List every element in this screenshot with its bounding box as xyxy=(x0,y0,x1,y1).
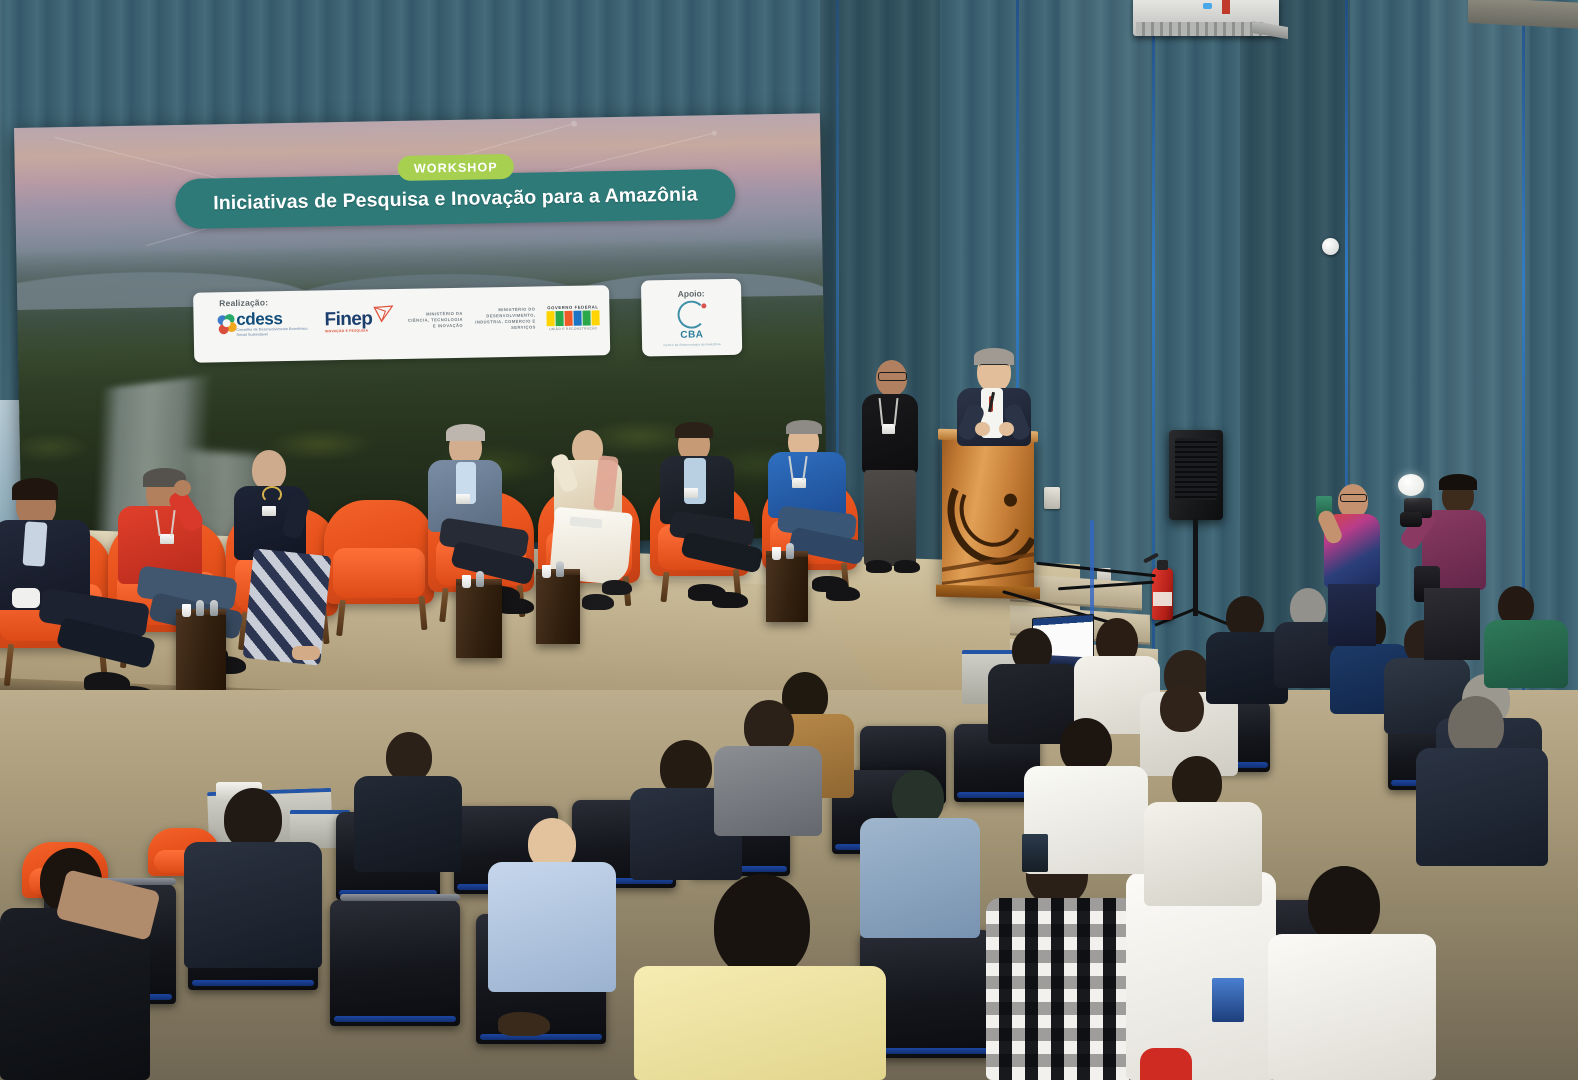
audience-head xyxy=(1160,684,1204,732)
finep-triangle-icon xyxy=(373,305,393,322)
audience-torso xyxy=(1144,802,1262,906)
phone-screen[interactable] xyxy=(1212,978,1244,1022)
panelist-shoe xyxy=(582,594,614,610)
water-cup[interactable] xyxy=(542,565,551,578)
audience-torso xyxy=(860,818,980,938)
panelist-shoe xyxy=(712,592,748,608)
speaker-hair xyxy=(974,348,1014,365)
cba-wordmark: CBA xyxy=(680,330,703,340)
panelist-hand xyxy=(174,480,191,496)
banner-title: Iniciativas de Pesquisa e Inovação para … xyxy=(213,183,698,215)
pa-speaker-stand xyxy=(1193,518,1198,616)
side-table xyxy=(456,584,502,658)
cba-subtitle: Centro de Biotecnologia da Amazônia xyxy=(663,342,720,347)
audience-torso xyxy=(1416,748,1548,866)
audience-seat[interactable] xyxy=(330,900,460,1026)
side-table xyxy=(766,556,808,622)
water-bottle[interactable] xyxy=(786,543,794,559)
conference-photo: Iniciativas de Pesquisa e Inovação para … xyxy=(0,0,1578,1080)
audience-checkered-shirt xyxy=(986,898,1136,1080)
audience-torso xyxy=(714,746,822,836)
ministerio-ciencia-logo: MINISTÉRIO DA CIÊNCIA, TECNOLOGIA E INOV… xyxy=(404,311,463,330)
air-conditioner-marker xyxy=(1222,0,1230,14)
videographer-trousers xyxy=(1328,584,1376,646)
panelist-head xyxy=(252,450,286,490)
water-cup[interactable] xyxy=(182,604,191,617)
videographer-glasses-icon xyxy=(1340,494,1367,502)
air-conditioner-vent xyxy=(1136,22,1264,36)
photographer-hair xyxy=(1439,474,1477,490)
panelist-badge xyxy=(456,494,470,504)
air-conditioner-led xyxy=(1203,3,1212,9)
seat-armrest xyxy=(340,894,460,901)
water-bottle[interactable] xyxy=(476,571,484,587)
audience-head xyxy=(224,788,282,850)
audience-torso xyxy=(1268,934,1436,1080)
realizacao-card: Realização: cdess Conselho de Desenvolvi… xyxy=(193,285,610,363)
podium-emblem-sweep xyxy=(942,568,1034,585)
panelist-hair xyxy=(675,422,713,438)
audience-head xyxy=(1308,866,1380,944)
audience-head xyxy=(1448,696,1504,756)
water-bottle[interactable] xyxy=(210,600,218,616)
panelist-shoe xyxy=(826,586,860,601)
water-cup[interactable] xyxy=(462,575,471,588)
audience-head xyxy=(714,874,810,978)
cdess-wordmark: cdess xyxy=(236,310,314,328)
water-cup[interactable] xyxy=(772,547,781,560)
governo-federal-label: GOVERNO FEDERAL xyxy=(546,304,599,310)
ministerio-desenvolvimento-logo: MINISTÉRIO DO DESENVOLVIMENTO, INDÚSTRIA… xyxy=(474,307,536,332)
fire-extinguisher-valve xyxy=(1157,560,1168,570)
audience-yellow-shirt xyxy=(634,966,886,1080)
audience-torso xyxy=(488,862,616,992)
panelist-necklace xyxy=(262,486,282,503)
panelist-shirt xyxy=(22,521,47,566)
podium xyxy=(942,434,1034,596)
audience-torso xyxy=(1484,620,1568,688)
panelist-badge xyxy=(262,506,276,516)
panelist-hand xyxy=(12,588,40,608)
attendant-glasses-icon xyxy=(878,372,907,381)
apoio-label: Apoio: xyxy=(678,288,705,298)
side-table xyxy=(176,614,226,692)
attendant-trousers xyxy=(864,470,916,566)
finep-subtitle: INOVAÇÃO E PESQUISA xyxy=(325,328,373,333)
brasil-wordmark-icon xyxy=(546,310,599,326)
audience-head xyxy=(386,732,432,782)
panelist-shoe xyxy=(498,598,534,614)
camera-flash-diffuser xyxy=(1398,474,1424,496)
cba-mark-icon xyxy=(677,300,706,329)
apoio-card: Apoio: CBA Centro de Biotecnologia da Am… xyxy=(641,279,742,357)
finep-wordmark: Finep xyxy=(324,310,372,329)
attendant-shoe xyxy=(894,560,920,573)
panelist-hair xyxy=(12,478,58,500)
red-cap xyxy=(1140,1048,1192,1080)
speaker-hand xyxy=(975,422,990,436)
water-bottle[interactable] xyxy=(556,561,564,577)
governo-federal-tagline: UNIÃO E RECONSTRUÇÃO xyxy=(547,326,600,331)
wall-outlet[interactable] xyxy=(1044,487,1060,509)
attendant-torso xyxy=(862,394,918,474)
panelist-badge xyxy=(684,488,698,498)
audience-torso xyxy=(184,842,322,968)
photographer-trousers xyxy=(1424,588,1480,660)
water-bottle[interactable] xyxy=(196,600,204,616)
cdess-mark-icon xyxy=(217,314,233,335)
panelist-foot xyxy=(292,646,320,660)
panel-armchair-empty[interactable] xyxy=(324,500,434,604)
finep-logo: Finep INOVAÇÃO E PESQUISA xyxy=(324,310,393,333)
speaker-hand xyxy=(999,422,1014,436)
camera-lens-icon xyxy=(1400,512,1422,527)
panelist-hair xyxy=(446,424,485,441)
phone-screen[interactable] xyxy=(1022,834,1048,872)
fire-extinguisher-label xyxy=(1153,592,1172,606)
banner-workshop-tag: WORKSHOP xyxy=(398,154,514,181)
panelist-shoe xyxy=(602,580,632,595)
speaker-glasses-icon xyxy=(979,364,1009,371)
cdess-logo: cdess Conselho de Desenvolvimento Econôm… xyxy=(217,310,313,338)
pa-speaker-grille xyxy=(1175,438,1217,500)
wall-fixture-icon xyxy=(1322,238,1339,255)
audience-torso xyxy=(354,776,462,872)
banner-workshop-label: WORKSHOP xyxy=(414,160,498,176)
attendant-shoe xyxy=(866,560,892,573)
governo-federal-logo: GOVERNO FEDERAL UNIÃO E RECONSTRUÇÃO xyxy=(546,304,599,331)
panelist-hair xyxy=(786,420,822,434)
podium-emblem-dot xyxy=(1004,493,1017,506)
cdess-subtitle: Conselho de Desenvolvimento Econômico So… xyxy=(236,327,313,337)
audience-shoe xyxy=(498,1012,550,1036)
side-table xyxy=(536,574,580,644)
